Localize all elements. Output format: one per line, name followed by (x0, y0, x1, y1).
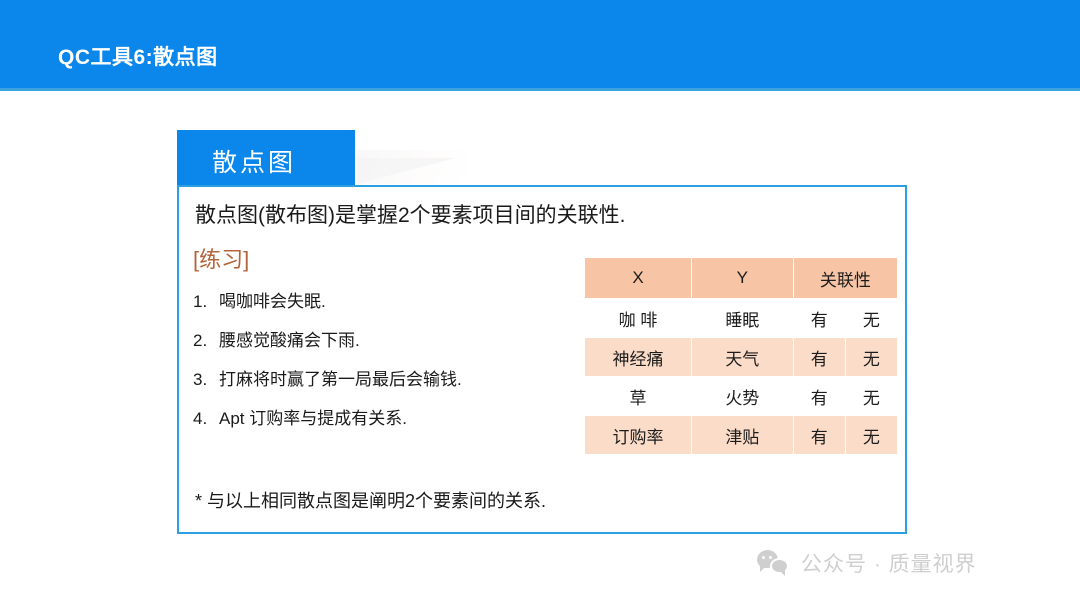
watermark-label: 公众号 · 质量视界 (801, 548, 977, 578)
list-item: 3. 打麻将时赢了第一局最后会输钱. (193, 365, 593, 390)
cell-no: 无 (845, 377, 897, 416)
list-item-label: 腰感觉酸痛会下雨. (219, 326, 593, 351)
column-header-relation: 关联性 (793, 258, 897, 299)
wechat-icon (757, 550, 791, 576)
list-item-label: Apt 订购率与提成有关系. (219, 404, 593, 429)
table-header-row: X Y 关联性 (585, 258, 898, 299)
cell-x: 神经痛 (585, 338, 692, 377)
relation-table-head: X Y 关联性 (585, 258, 898, 299)
wechat-eye-right (769, 556, 772, 559)
practice-label: [练习] (193, 242, 249, 274)
cell-no: 无 (845, 338, 897, 377)
cell-y: 天气 (691, 338, 793, 377)
example-list: 1. 喝咖啡会失眠. 2. 腰感觉酸痛会下雨. 3. 打麻将时赢了第一局最后会输… (193, 287, 593, 443)
wechat-bubble-front (770, 558, 789, 574)
cell-x: 订购率 (585, 416, 692, 455)
column-header-y: Y (691, 258, 793, 299)
cell-y: 睡眠 (691, 299, 793, 338)
section-tab-label: 散点图 (212, 143, 296, 179)
content-card: 散点图(散布图)是掌握2个要素项目间的关联性. [练习] 1. 喝咖啡会失眠. … (177, 185, 907, 534)
list-item-index: 1. (193, 292, 219, 312)
watermark: 公众号 · 质量视界 (757, 548, 977, 578)
cell-x: 咖 啡 (585, 299, 692, 338)
paper-fold-triangle (357, 158, 455, 184)
list-item: 4. Apt 订购率与提成有关系. (193, 404, 593, 429)
cell-yes: 有 (793, 299, 845, 338)
cell-y: 津贴 (691, 416, 793, 455)
cell-yes: 有 (793, 416, 845, 455)
list-item: 2. 腰感觉酸痛会下雨. (193, 326, 593, 351)
list-item-index: 2. (193, 331, 219, 351)
cell-no: 无 (845, 299, 897, 338)
slide-root: QC工具6:散点图 散点图 散点图(散布图)是掌握2个要素项目间的关联性. [练… (0, 0, 1080, 607)
footnote: * 与以上相同散点图是阐明2个要素间的关系. (195, 487, 546, 513)
table-row: 订购率 津贴 有 无 (585, 416, 898, 455)
column-header-x: X (585, 258, 692, 299)
list-item-label: 打麻将时赢了第一局最后会输钱. (219, 365, 593, 390)
table-row: 咖 啡 睡眠 有 无 (585, 299, 898, 338)
cell-yes: 有 (793, 338, 845, 377)
list-item-label: 喝咖啡会失眠. (219, 287, 593, 312)
cell-y: 火势 (691, 377, 793, 416)
table-row: 草 火势 有 无 (585, 377, 898, 416)
list-item-index: 3. (193, 370, 219, 390)
page-title: QC工具6:散点图 (58, 41, 218, 71)
relation-table-body: 咖 啡 睡眠 有 无 神经痛 天气 有 无 草 火势 有 无 (585, 299, 898, 455)
cell-no: 无 (845, 416, 897, 455)
wechat-eye-left (762, 556, 765, 559)
section-tab: 散点图 (177, 130, 355, 186)
table-row: 神经痛 天气 有 无 (585, 338, 898, 377)
lead-line: 散点图(散布图)是掌握2个要素项目间的关联性. (195, 199, 626, 229)
list-item: 1. 喝咖啡会失眠. (193, 287, 593, 312)
list-item-index: 4. (193, 409, 219, 429)
cell-x: 草 (585, 377, 692, 416)
relation-table: X Y 关联性 咖 啡 睡眠 有 无 神经痛 天气 有 无 (584, 257, 898, 455)
header-bottom-edge (0, 88, 1080, 91)
header-bar: QC工具6:散点图 (0, 0, 1080, 91)
cell-yes: 有 (793, 377, 845, 416)
